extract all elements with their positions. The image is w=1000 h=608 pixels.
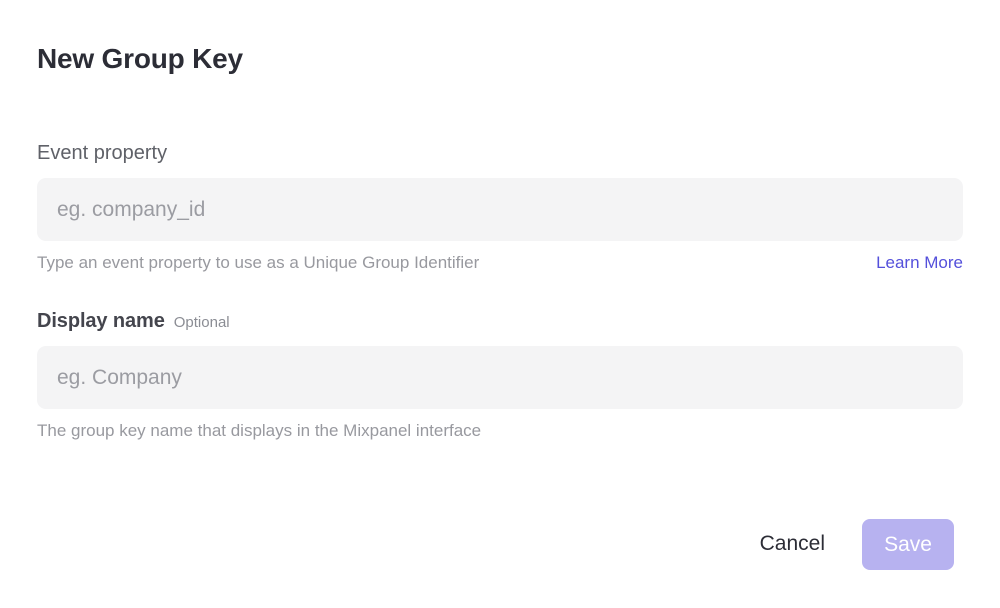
save-button[interactable]: Save (862, 519, 954, 570)
field-display-name: Display name Optional The group key name… (0, 308, 1000, 442)
display-name-input[interactable] (37, 346, 963, 409)
form-body: Event property Type an event property to… (0, 140, 1000, 442)
display-name-label-row: Display name Optional (37, 308, 963, 334)
display-name-helper-text: The group key name that displays in the … (37, 419, 481, 442)
display-name-label: Display name (37, 308, 165, 334)
learn-more-link[interactable]: Learn More (876, 251, 963, 274)
event-property-label: Event property (37, 140, 167, 166)
display-name-optional-tag: Optional (174, 313, 230, 333)
page-title: New Group Key (37, 41, 243, 77)
display-name-helper-row: The group key name that displays in the … (37, 419, 963, 442)
cancel-button[interactable]: Cancel (760, 530, 825, 558)
dialog-footer: Cancel Save (0, 518, 1000, 570)
event-property-label-row: Event property (37, 140, 963, 166)
event-property-input[interactable] (37, 178, 963, 241)
field-spacer (0, 274, 1000, 308)
field-event-property: Event property Type an event property to… (0, 140, 1000, 274)
event-property-helper-text: Type an event property to use as a Uniqu… (37, 251, 479, 274)
event-property-helper-row: Type an event property to use as a Uniqu… (37, 251, 963, 274)
new-group-key-dialog: New Group Key Event property Type an eve… (0, 0, 1000, 608)
